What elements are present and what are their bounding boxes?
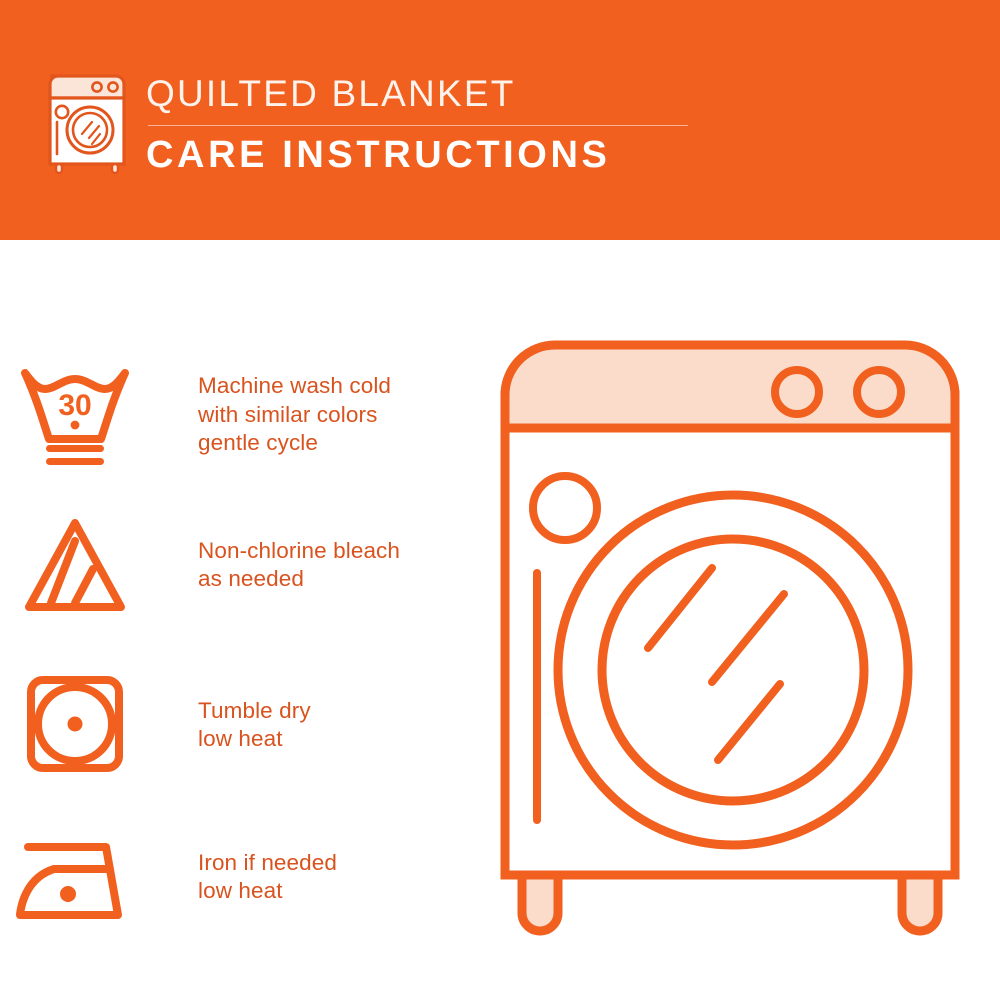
tumble-dry-low-icon	[0, 660, 150, 790]
header-title-block: QUILTED BLANKET CARE INSTRUCTIONS	[146, 72, 706, 178]
wash-temperature-label: 30	[58, 389, 91, 422]
heat-dot	[68, 717, 83, 732]
washing-machine-icon	[42, 62, 134, 177]
machine-leg	[902, 875, 938, 931]
care-row-machine-wash: 30 Machine wash cold with similar colors…	[0, 340, 480, 490]
care-label-machine-wash: Machine wash cold with similar colors ge…	[150, 372, 391, 458]
care-row-tumble-dry: Tumble dry low heat	[0, 650, 480, 800]
iron-low-heat-icon	[0, 812, 150, 942]
gentle-cycle-bar	[46, 445, 104, 452]
title-divider	[148, 125, 688, 126]
heat-dot	[71, 421, 80, 430]
care-label-iron: Iron if needed low heat	[150, 849, 337, 906]
page-subtitle: CARE INSTRUCTIONS	[146, 132, 706, 178]
care-instructions-list: 30 Machine wash cold with similar colors…	[0, 240, 480, 1000]
care-label-bleach: Non-chlorine bleach as needed	[150, 537, 400, 594]
non-chlorine-bleach-icon	[0, 500, 150, 630]
page-header: QUILTED BLANKET CARE INSTRUCTIONS	[0, 0, 1000, 240]
machine-leg	[522, 875, 558, 931]
care-row-iron: Iron if needed low heat	[0, 802, 480, 952]
heat-dot	[60, 886, 76, 902]
care-instructions-page: QUILTED BLANKET CARE INSTRUCTIONS 30 Mac…	[0, 0, 1000, 1000]
machine-wash-cold-icon: 30	[0, 350, 150, 480]
care-row-bleach: Non-chlorine bleach as needed	[0, 490, 480, 640]
care-label-tumble-dry: Tumble dry low heat	[150, 697, 311, 754]
gentle-cycle-bar	[46, 458, 104, 465]
page-title: QUILTED BLANKET	[146, 72, 706, 116]
large-washing-machine-illustration	[480, 320, 980, 950]
